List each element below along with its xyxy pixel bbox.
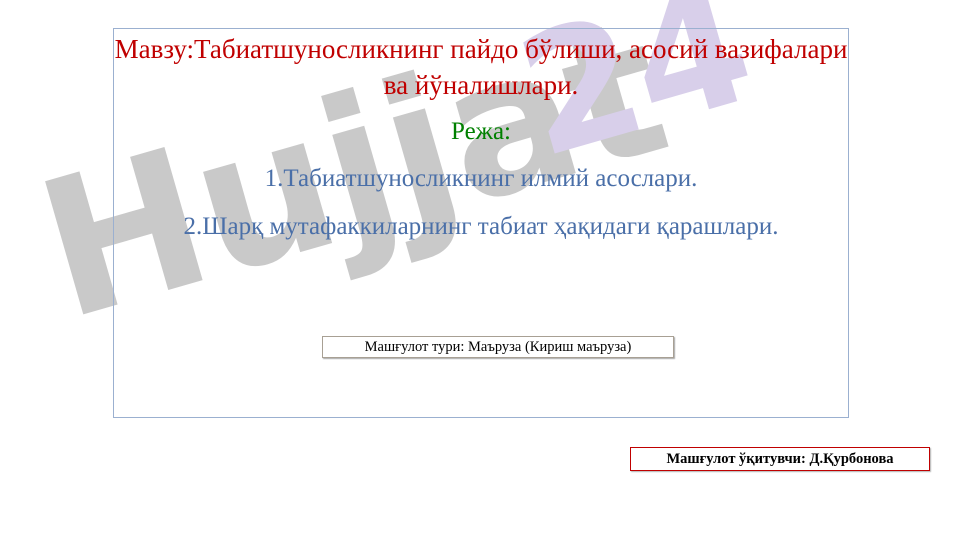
teacher-name-label: Машғулот ўқитувчи: Д.Қурбонова bbox=[666, 451, 893, 468]
slide-title: Мавзу:Табиатшуносликнинг пайдо бўлиши, а… bbox=[113, 32, 849, 103]
plan-item-2: 2.Шарқ мутафаккиларнинг табиат ҳақидаги … bbox=[150, 210, 812, 243]
plan-item-1: 1.Табиатшуносликнинг илмий асослари. bbox=[113, 165, 849, 193]
teacher-name-box: Машғулот ўқитувчи: Д.Қурбонова bbox=[630, 447, 930, 471]
lesson-type-box: Машғулот тури: Маъруза (Кириш маъруза) bbox=[322, 336, 674, 358]
plan-heading: Режа: bbox=[113, 118, 849, 146]
lesson-type-label: Машғулот тури: Маъруза (Кириш маъруза) bbox=[365, 339, 632, 356]
